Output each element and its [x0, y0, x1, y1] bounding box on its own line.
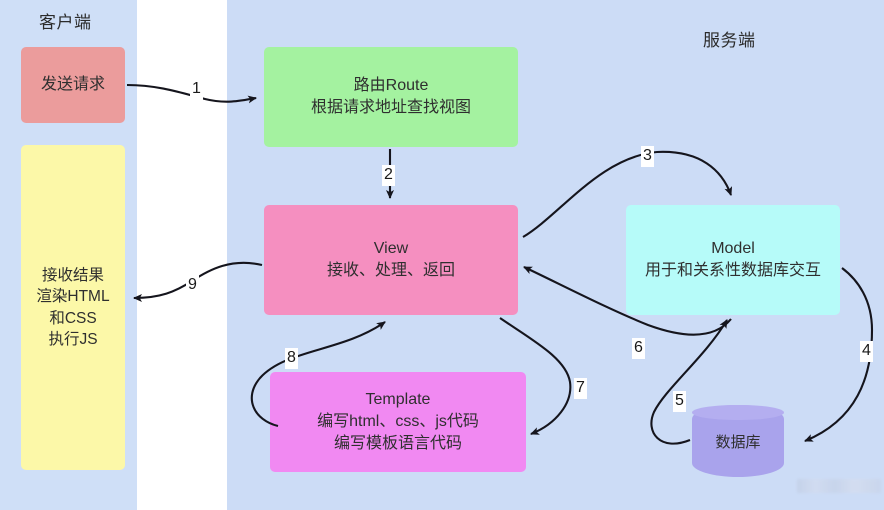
server-panel-label: 服务端 — [703, 26, 756, 51]
edge-label-4: 4 — [860, 341, 873, 362]
edge-label-6: 6 — [632, 338, 645, 359]
node-send-request-line-1: 发送请求 — [41, 74, 105, 96]
edge-label-7: 7 — [574, 378, 587, 399]
node-model-line-2: 用于和关系性数据库交互 — [645, 260, 821, 282]
edge-label-9: 9 — [186, 275, 199, 296]
node-receive-result-line-2: 渲染HTML — [36, 286, 109, 307]
node-view-line-2: 接收、处理、返回 — [327, 260, 455, 282]
node-route[interactable]: 路由Route 根据请求地址查找视图 — [264, 47, 518, 147]
edge-label-1: 1 — [190, 79, 203, 100]
node-template-line-1: Template — [366, 389, 431, 411]
node-receive-result-line-3: 和CSS — [49, 308, 96, 329]
node-template-line-2: 编写html、css、js代码 — [317, 411, 479, 433]
node-database-label: 数据库 — [715, 431, 760, 452]
node-model[interactable]: Model 用于和关系性数据库交互 — [626, 205, 840, 315]
node-model-line-1: Model — [711, 238, 755, 260]
node-route-line-1: 路由Route — [354, 75, 429, 97]
node-receive-result-line-4: 执行JS — [48, 329, 97, 350]
edge-label-5: 5 — [673, 391, 686, 412]
node-send-request[interactable]: 发送请求 — [21, 47, 125, 123]
node-view[interactable]: View 接收、处理、返回 — [264, 205, 518, 315]
node-template[interactable]: Template 编写html、css、js代码 编写模板语言代码 — [270, 372, 526, 472]
edge-label-3: 3 — [641, 146, 654, 167]
node-view-line-1: View — [374, 238, 408, 260]
node-template-line-3: 编写模板语言代码 — [334, 433, 462, 455]
node-receive-result[interactable]: 接收结果 渲染HTML 和CSS 执行JS — [21, 145, 125, 470]
edge-label-8: 8 — [285, 348, 298, 369]
watermark — [797, 479, 881, 493]
node-route-line-2: 根据请求地址查找视图 — [311, 97, 471, 119]
node-database[interactable]: 数据库 — [692, 405, 784, 477]
edge-label-2: 2 — [382, 165, 395, 186]
diagram-canvas: 客户端 服务端 发送请求 接收结果 渲染HTML 和CSS 执行JS 路由Rou… — [0, 0, 884, 510]
node-receive-result-line-1: 接收结果 — [42, 265, 104, 286]
client-panel-label: 客户端 — [39, 8, 92, 33]
